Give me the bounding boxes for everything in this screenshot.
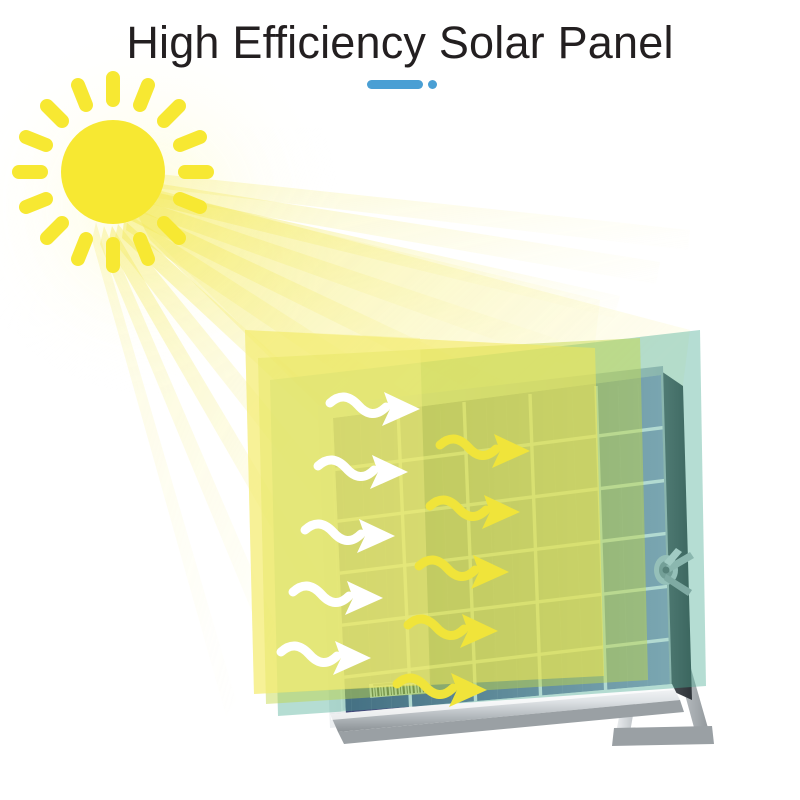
product-illustration-page: High Efficiency Solar Panel [0, 0, 800, 800]
solar-panel-illustration [0, 0, 800, 800]
divider-dot [428, 80, 437, 89]
page-title: High Efficiency Solar Panel [0, 16, 800, 69]
divider-bar [367, 80, 423, 89]
sheet-yellow-wash [245, 330, 430, 694]
title-divider [367, 80, 439, 90]
sun-icon [19, 78, 207, 266]
